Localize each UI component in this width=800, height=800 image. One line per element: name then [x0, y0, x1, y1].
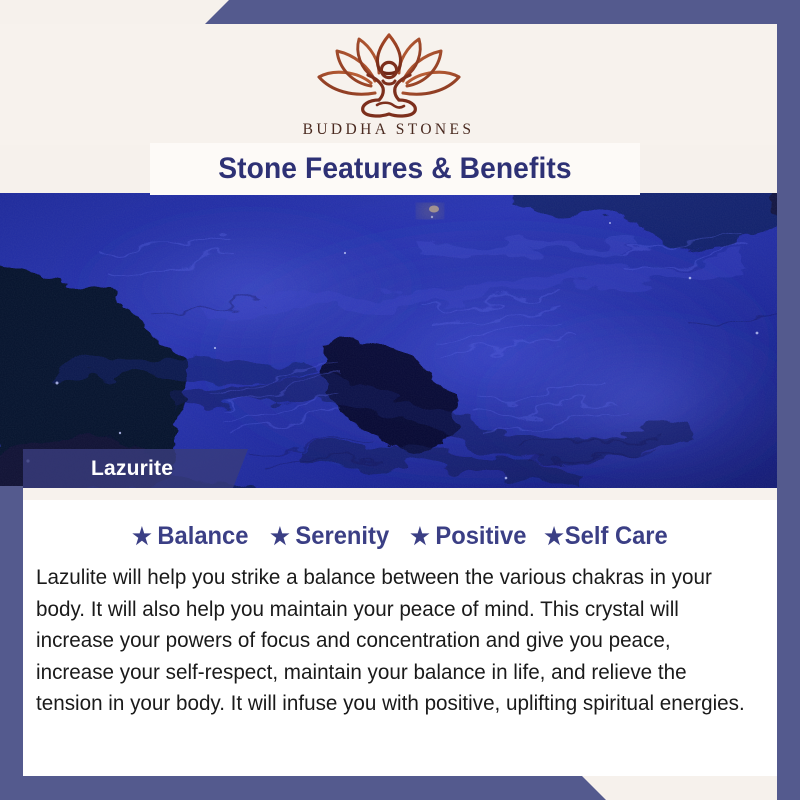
benefits-row: ★ Balance ★ Serenity ★ Positive ★ Self C… — [23, 522, 777, 551]
frame-right-band — [777, 0, 800, 800]
benefit-item-serenity: ★ Serenity — [270, 522, 389, 551]
title-banner: Stone Features & Benefits — [150, 143, 640, 195]
star-icon: ★ — [410, 525, 430, 548]
stone-description: Lazulite will help you strike a balance … — [36, 562, 746, 720]
frame-left-band — [0, 486, 23, 800]
star-icon: ★ — [544, 525, 564, 548]
brand-header: BUDDHA STONES — [0, 24, 777, 145]
benefit-item-self-care: ★ Self Care — [544, 522, 668, 551]
stone-photo — [0, 193, 800, 488]
benefit-item-positive: ★ Positive — [410, 522, 526, 551]
benefit-item-balance: ★ Balance — [132, 522, 248, 551]
frame-top-band — [0, 0, 800, 24]
page-title: Stone Features & Benefits — [218, 152, 571, 186]
stone-photo-graphic — [0, 193, 800, 488]
frame-bottom-band — [0, 776, 800, 800]
benefit-label: Positive — [435, 522, 526, 551]
benefit-label: Balance — [158, 522, 249, 551]
benefit-label: Self Care — [564, 522, 667, 551]
star-icon: ★ — [270, 525, 290, 548]
benefit-label: Serenity — [295, 522, 389, 551]
star-icon: ★ — [132, 525, 152, 548]
brand-name: BUDDHA STONES — [303, 121, 475, 139]
stone-name: Lazurite — [91, 457, 173, 481]
stone-name-bar: Lazurite — [23, 449, 248, 488]
content-card: ★ Balance ★ Serenity ★ Positive ★ Self C… — [23, 488, 777, 776]
poster-root: BUDDHA STONES Stone Features & Benefits — [0, 0, 800, 800]
card-top-divider — [23, 488, 777, 500]
brand-logo: BUDDHA STONES — [303, 31, 475, 139]
lotus-meditation-icon — [313, 31, 465, 119]
